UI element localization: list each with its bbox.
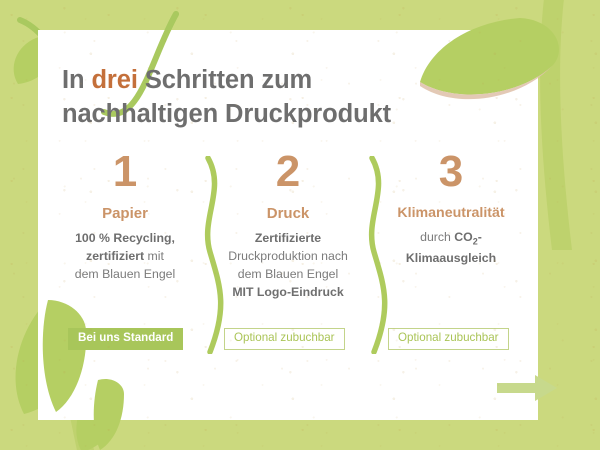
- step-1-line3-normal: dem Blauen Engel: [75, 267, 176, 281]
- step-body-1: 100 % Recycling, zertifiziert mit dem Bl…: [42, 229, 208, 283]
- step-3-line1-bold: CO: [454, 230, 472, 244]
- step-1-line2-normal: mit: [144, 249, 164, 263]
- status-badge-step-2[interactable]: Optional zubuchbar: [224, 328, 345, 350]
- headline-line1-after: Schritten zum: [138, 66, 312, 94]
- step-1-line2-bold: zertifiziert: [86, 249, 144, 263]
- headline-line2: nachhaltigen Druckprodukt: [62, 100, 391, 128]
- step-number-2: 2: [205, 150, 371, 198]
- steps-container: 1 Papier 100 % Recycling, zertifiziert m…: [38, 150, 538, 360]
- headline-accent-word: drei: [91, 66, 137, 94]
- status-badge-step-3[interactable]: Optional zubuchbar: [388, 328, 509, 350]
- status-badge-step-1[interactable]: Bei uns Standard: [68, 328, 183, 350]
- step-title-1: Papier: [42, 205, 208, 223]
- step-body-2: Zertifizierte Druckproduktion nach dem B…: [205, 229, 371, 301]
- step-number-1: 1: [42, 150, 208, 198]
- headline-line1-before: In: [62, 66, 91, 94]
- step-number-3: 3: [368, 150, 534, 198]
- step-2-line4-bold: MIT Logo-Eindruck: [232, 285, 343, 299]
- step-1-line1-bold: 100 % Recycling,: [75, 231, 175, 245]
- step-3-line1-normal: durch: [420, 230, 454, 244]
- step-column-1: 1 Papier 100 % Recycling, zertifiziert m…: [42, 150, 208, 283]
- step-3-line1-bold-after: -: [478, 230, 482, 244]
- infographic-root: In drei Schritten zum nachhaltigen Druck…: [0, 0, 600, 450]
- arrow-right-icon[interactable]: [497, 375, 559, 401]
- page-title: In drei Schritten zum nachhaltigen Druck…: [62, 64, 492, 131]
- step-2-line2-normal: Druckproduktion nach: [228, 249, 348, 263]
- step-2-line3-normal: dem Blauen Engel: [238, 267, 339, 281]
- stem-top-right: [540, 0, 572, 250]
- step-2-line1-bold: Zertifizierte: [255, 231, 321, 245]
- step-title-2: Druck: [205, 205, 371, 223]
- step-3-line2-bold: Klimaausgleich: [406, 251, 496, 265]
- step-title-3: Klimaneutralität: [368, 205, 534, 222]
- step-column-2: 2 Druck Zertifizierte Druckproduktion na…: [205, 150, 371, 301]
- step-column-3: 3 Klimaneutralität durch CO2- Klimaausgl…: [368, 150, 534, 267]
- step-body-3: durch CO2- Klimaausgleich: [368, 228, 534, 267]
